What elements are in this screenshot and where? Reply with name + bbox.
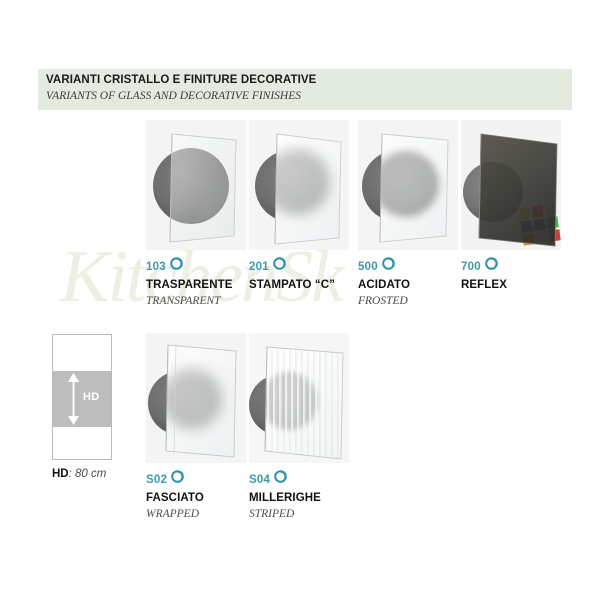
page-title: VARIANTI CRISTALLO E FINITURE DECORATIVE xyxy=(46,74,316,86)
hd-band xyxy=(53,371,111,427)
variant-name-it: TRASPARENTE xyxy=(146,279,233,291)
swirl-circle-icon xyxy=(273,257,286,275)
variant-name-it: FASCIATO xyxy=(146,492,204,504)
variant-code-row: 103 xyxy=(146,258,183,274)
glass-sample-printed-c xyxy=(249,120,349,250)
glass-sample-transparent xyxy=(146,120,246,250)
hd-caption: HD: 80 cm xyxy=(52,468,106,480)
variant-name-it: REFLEX xyxy=(461,279,507,291)
variant-name-en: TRANSPARENT xyxy=(146,295,221,307)
glass-sample-reflex xyxy=(461,120,561,250)
variant-code: 500 xyxy=(358,261,378,273)
variant-code-row: 201 xyxy=(249,258,286,274)
variant-code: S04 xyxy=(249,474,270,486)
hd-inner-label: HD xyxy=(83,391,100,403)
glass-sample-wrapped xyxy=(146,333,246,463)
section-header-band: VARIANTI CRISTALLO E FINITURE DECORATIVE… xyxy=(38,69,572,110)
variant-name-en: WRAPPED xyxy=(146,508,199,520)
variant-name-en: STRIPED xyxy=(249,508,294,520)
glass-sample-striped xyxy=(249,333,349,463)
hd-double-arrow-icon xyxy=(67,373,80,425)
variant-name-it: STAMPATO “C” xyxy=(249,279,335,291)
hd-caption-value: : 80 cm xyxy=(69,468,107,480)
variant-code: 201 xyxy=(249,261,269,273)
swirl-circle-icon xyxy=(274,470,287,488)
variant-code-row: 500 xyxy=(358,258,395,274)
variant-code-row: 700 xyxy=(461,258,498,274)
hd-panel-outline: HD xyxy=(52,334,112,460)
page-subtitle: VARIANTS OF GLASS AND DECORATIVE FINISHE… xyxy=(46,90,301,102)
variant-code-row: S04 xyxy=(249,471,287,487)
variant-code: S02 xyxy=(146,474,167,486)
swirl-circle-icon xyxy=(171,470,184,488)
variant-name-en: FROSTED xyxy=(358,295,408,307)
swirl-circle-icon xyxy=(485,257,498,275)
variant-code: 700 xyxy=(461,261,481,273)
swirl-circle-icon xyxy=(170,257,183,275)
variant-name-it: MILLERIGHE xyxy=(249,492,321,504)
glass-sample-frosted xyxy=(358,120,458,250)
variant-code: 103 xyxy=(146,261,166,273)
swirl-circle-icon xyxy=(382,257,395,275)
variant-code-row: S02 xyxy=(146,471,184,487)
variant-name-it: ACIDATO xyxy=(358,279,410,291)
hd-caption-label: HD xyxy=(52,468,69,480)
